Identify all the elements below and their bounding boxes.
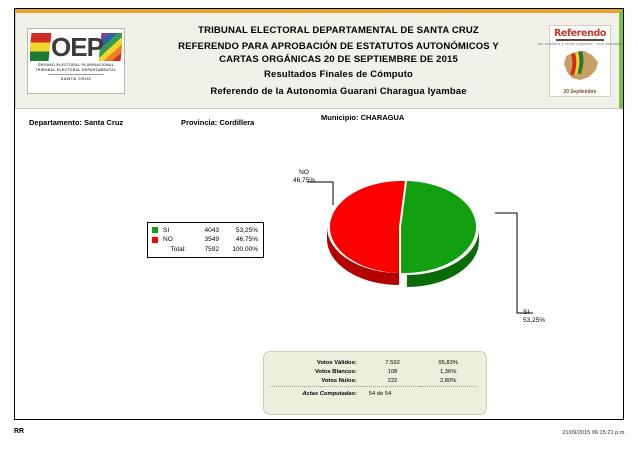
legend-row: SI 4043 53,25% xyxy=(152,226,258,235)
legend-swatch-si xyxy=(152,226,163,235)
report-page-frame: OEP ÓRGANO ELECTORAL PLURINACIONAL TRIBU… xyxy=(14,8,624,420)
municipio-label: Municipio: CHARAGUA xyxy=(321,113,404,122)
callout-no: NO 46,75% xyxy=(281,169,327,185)
chart-legend: SI 4043 53,25% NO 3549 46,75% Total: 759… xyxy=(147,222,264,258)
header-title-line-1: TRIBUNAL ELECTORAL DEPARTAMENTAL DE SANT… xyxy=(198,26,479,36)
referendo-date: 20 Septiembre xyxy=(564,89,597,95)
legend-votes-no: 3549 xyxy=(189,235,226,244)
summary-percent-nulos: 2,80% xyxy=(420,376,476,386)
legend-row: NO 3549 46,75% xyxy=(152,235,258,244)
summary-row-nulos: Votos Nulos: 222 2,80% xyxy=(270,376,476,386)
location-row: Departamento: Santa Cruz Provincia: Cord… xyxy=(15,113,623,135)
oep-emblem-icon: OEP xyxy=(30,31,122,63)
summary-label-actas: Actas Computadas: xyxy=(270,386,365,398)
oep-caption-tribunal: TRIBUNAL ELECTORAL DEPARTAMENTAL xyxy=(36,68,117,73)
header-left-logo-area: OEP ÓRGANO ELECTORAL PLURINACIONAL TRIBU… xyxy=(16,13,136,108)
provincia-label: Provincia: Cordillera xyxy=(181,118,254,127)
header-title-block: TRIBUNAL ELECTORAL DEPARTAMENTAL DE SANT… xyxy=(136,13,541,108)
header-title-line-5: Referendo de la Autonomia Guarani Charag… xyxy=(210,87,466,97)
summary-value-blancos: 108 xyxy=(365,367,421,376)
report-header-banner: OEP ÓRGANO ELECTORAL PLURINACIONAL TRIBU… xyxy=(15,9,623,109)
summary-value-actas: 54 de 54 xyxy=(365,386,476,398)
header-title-line-2: REFERENDO PARA APROBACIÓN DE ESTATUTOS A… xyxy=(178,42,499,52)
pie-slice-si xyxy=(401,181,479,287)
pie-chart xyxy=(315,175,520,320)
legend-total-spacer xyxy=(152,245,163,254)
header-title-line-4: Resultados Finales de Cómputo xyxy=(264,70,413,80)
summary-value-validos: 7.592 xyxy=(365,358,421,367)
chart-area: SI 4043 53,25% NO 3549 46,75% Total: 759… xyxy=(15,135,623,350)
referendo-wordmark: Referendo xyxy=(554,29,606,39)
summary-value-nulos: 222 xyxy=(365,376,421,386)
legend-total-votes: 7592 xyxy=(189,245,226,254)
oep-logo: OEP ÓRGANO ELECTORAL PLURINACIONAL TRIBU… xyxy=(27,28,125,94)
legend-total-row: Total: 7592 100,00% xyxy=(152,245,258,254)
summary-row-actas: Actas Computadas: 54 de 54 xyxy=(270,386,476,398)
summary-row-blancos: Votos Blancos: 108 1,36% xyxy=(270,367,476,376)
legend-label-no: NO xyxy=(163,235,189,244)
legend-label-si: SI xyxy=(163,226,189,235)
legend-total-percent: 100,00% xyxy=(226,245,258,254)
callout-si-percent: 53,25% xyxy=(523,317,569,325)
legend-votes-si: 4043 xyxy=(189,226,226,235)
summary-percent-validos: 95,83% xyxy=(420,358,476,367)
referendo-subtitle: por estatutos y cartas orgánicas · vota … xyxy=(538,42,622,46)
callout-si-label: SI xyxy=(523,309,569,317)
departamento-label: Departamento: Santa Cruz xyxy=(29,118,123,127)
header-title-line-3: CARTAS ORGÁNICAS 20 DE SEPTIEMBRE DE 201… xyxy=(219,55,458,65)
oep-letters: OEP xyxy=(48,32,106,62)
callout-si: SI 53,25% xyxy=(523,309,569,325)
summary-percent-blancos: 1,36% xyxy=(420,367,476,376)
bolivia-map-icon xyxy=(558,47,602,88)
referendo-logo: Referendo por estatutos y cartas orgánic… xyxy=(549,25,611,97)
vote-summary-box: Votos Válidos: 7.592 95,83% Votos Blanco… xyxy=(263,351,487,415)
callout-no-label: NO xyxy=(281,169,327,177)
callout-no-percent: 46,75% xyxy=(281,177,327,185)
summary-label-blancos: Votos Blancos: xyxy=(270,367,365,376)
legend-color-swatch xyxy=(152,237,158,243)
summary-label-validos: Votos Válidos: xyxy=(270,358,365,367)
header-right-logo-area: Referendo por estatutos y cartas orgánic… xyxy=(541,13,619,108)
legend-swatch-no xyxy=(152,235,163,244)
referendo-rule xyxy=(556,39,604,41)
legend-total-label: Total: xyxy=(163,245,189,254)
footer-timestamp: 21/09/2015 06:15:21 p.m. xyxy=(562,430,626,436)
summary-row-validos: Votos Válidos: 7.592 95,83% xyxy=(270,358,476,367)
summary-label-nulos: Votos Nulos: xyxy=(270,376,365,386)
oep-caption-santacruz: SANTA CRUZ xyxy=(48,74,104,82)
footer-left-code: RR xyxy=(14,428,24,435)
legend-color-swatch xyxy=(152,227,158,233)
legend-percent-si: 53,25% xyxy=(226,226,258,235)
legend-percent-no: 46,75% xyxy=(226,235,258,244)
